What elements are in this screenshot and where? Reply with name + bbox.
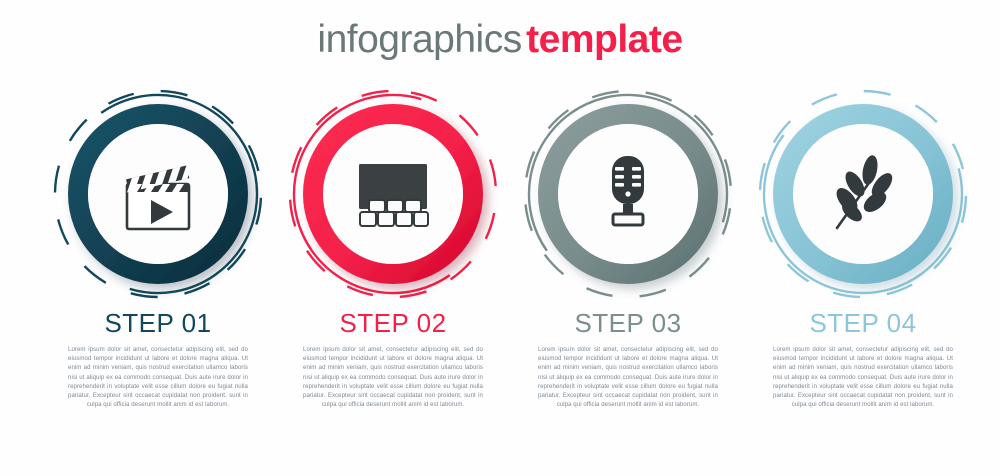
cinema-screen-icon xyxy=(275,88,511,300)
step-badge-4[interactable] xyxy=(745,88,981,300)
infographic-canvas: infographics template xyxy=(0,0,1000,476)
step-label-1: STEP 01 xyxy=(40,308,276,339)
clapperboard-icon xyxy=(40,88,276,300)
step-body-3: Lorem ipsum dolor sit amet, consectetur … xyxy=(538,345,718,409)
step-column-1[interactable]: STEP 01 Lorem ipsum dolor sit amet, cons… xyxy=(40,88,276,409)
title-word-infographics: infographics xyxy=(317,18,521,61)
step-badge-2[interactable] xyxy=(275,88,511,300)
step-badge-3[interactable] xyxy=(510,88,746,300)
leaf-branch-icon xyxy=(745,88,981,300)
step-column-2[interactable]: STEP 02 Lorem ipsum dolor sit amet, cons… xyxy=(275,88,511,409)
step-label-3: STEP 03 xyxy=(510,308,746,339)
retro-microphone-icon xyxy=(510,88,746,300)
title-word-template: template xyxy=(526,18,682,61)
step-label-4: STEP 04 xyxy=(745,308,981,339)
step-body-2: Lorem ipsum dolor sit amet, consectetur … xyxy=(303,345,483,409)
page-title: infographics template xyxy=(0,18,1000,62)
step-body-4: Lorem ipsum dolor sit amet, consectetur … xyxy=(773,345,953,409)
step-badge-1[interactable] xyxy=(40,88,276,300)
step-column-3[interactable]: STEP 03 Lorem ipsum dolor sit amet, cons… xyxy=(510,88,746,409)
step-body-1: Lorem ipsum dolor sit amet, consectetur … xyxy=(68,345,248,409)
step-label-2: STEP 02 xyxy=(275,308,511,339)
step-column-4[interactable]: STEP 04 Lorem ipsum dolor sit amet, cons… xyxy=(745,88,981,409)
